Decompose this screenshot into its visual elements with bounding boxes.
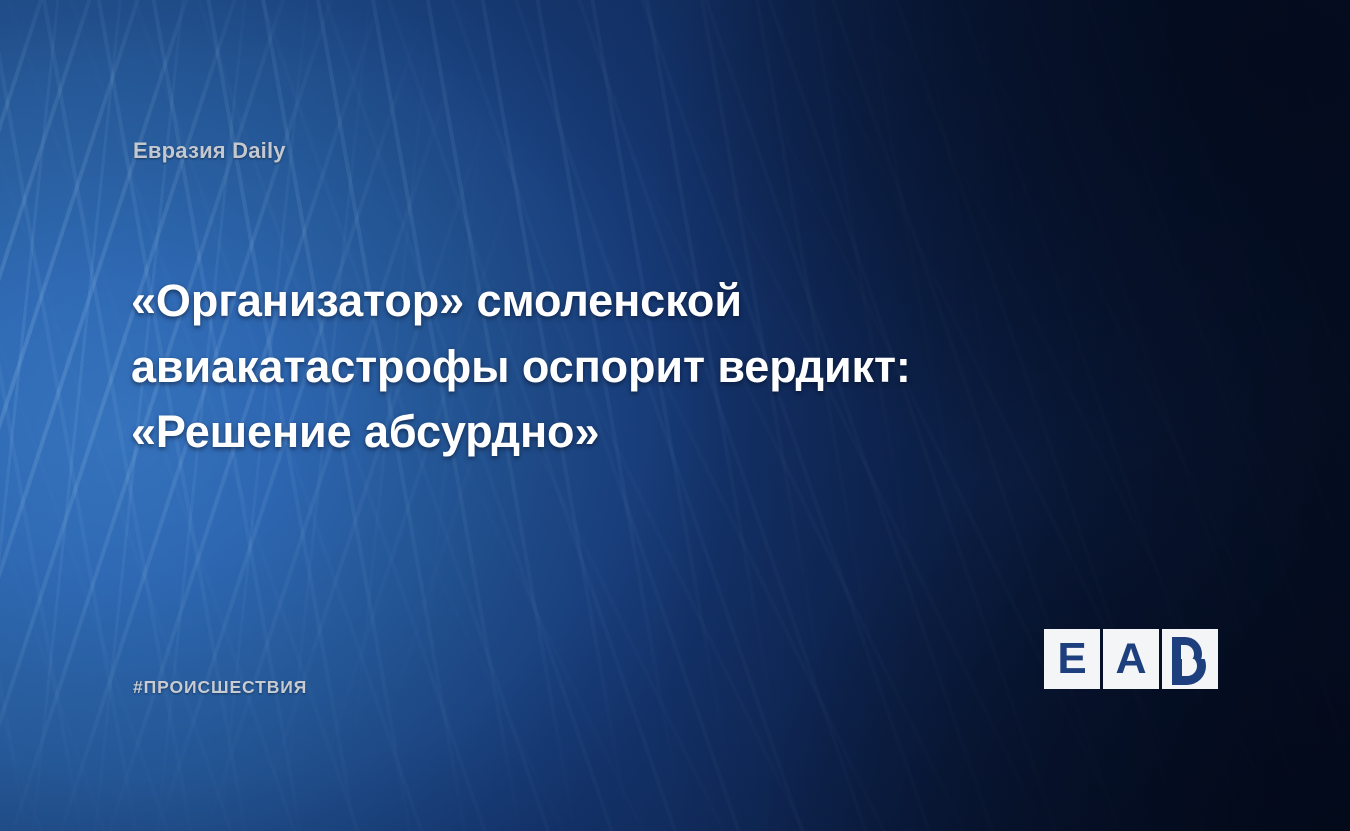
headline: «Организатор» смоленской авиакатастрофы …	[131, 268, 1131, 465]
split-d-tile-bottom	[1162, 659, 1220, 689]
headline-line: «Решение абсурдно»	[131, 399, 1131, 465]
card-content: Евразия Daily «Организатор» смоленской а…	[0, 0, 1350, 831]
headline-line: «Организатор» смоленской	[131, 268, 1131, 334]
split-d-tile-top	[1162, 629, 1220, 659]
category-hashtag: #ПРОИСШЕСТВИЯ	[133, 677, 307, 698]
letter-a-tile: A	[1103, 629, 1159, 689]
headline-line: авиакатастрофы оспорит вердикт:	[131, 334, 1131, 400]
brand-name: Евразия Daily	[133, 138, 286, 164]
news-share-card: Евразия Daily «Организатор» смоленской а…	[0, 0, 1350, 831]
logo-tile-e: E	[1044, 629, 1100, 689]
logo-tile-a: A	[1103, 629, 1159, 689]
eadaily-logo: E A	[1044, 629, 1220, 689]
letter-e-tile: E	[1044, 629, 1100, 689]
logo-tile-d	[1162, 629, 1220, 689]
